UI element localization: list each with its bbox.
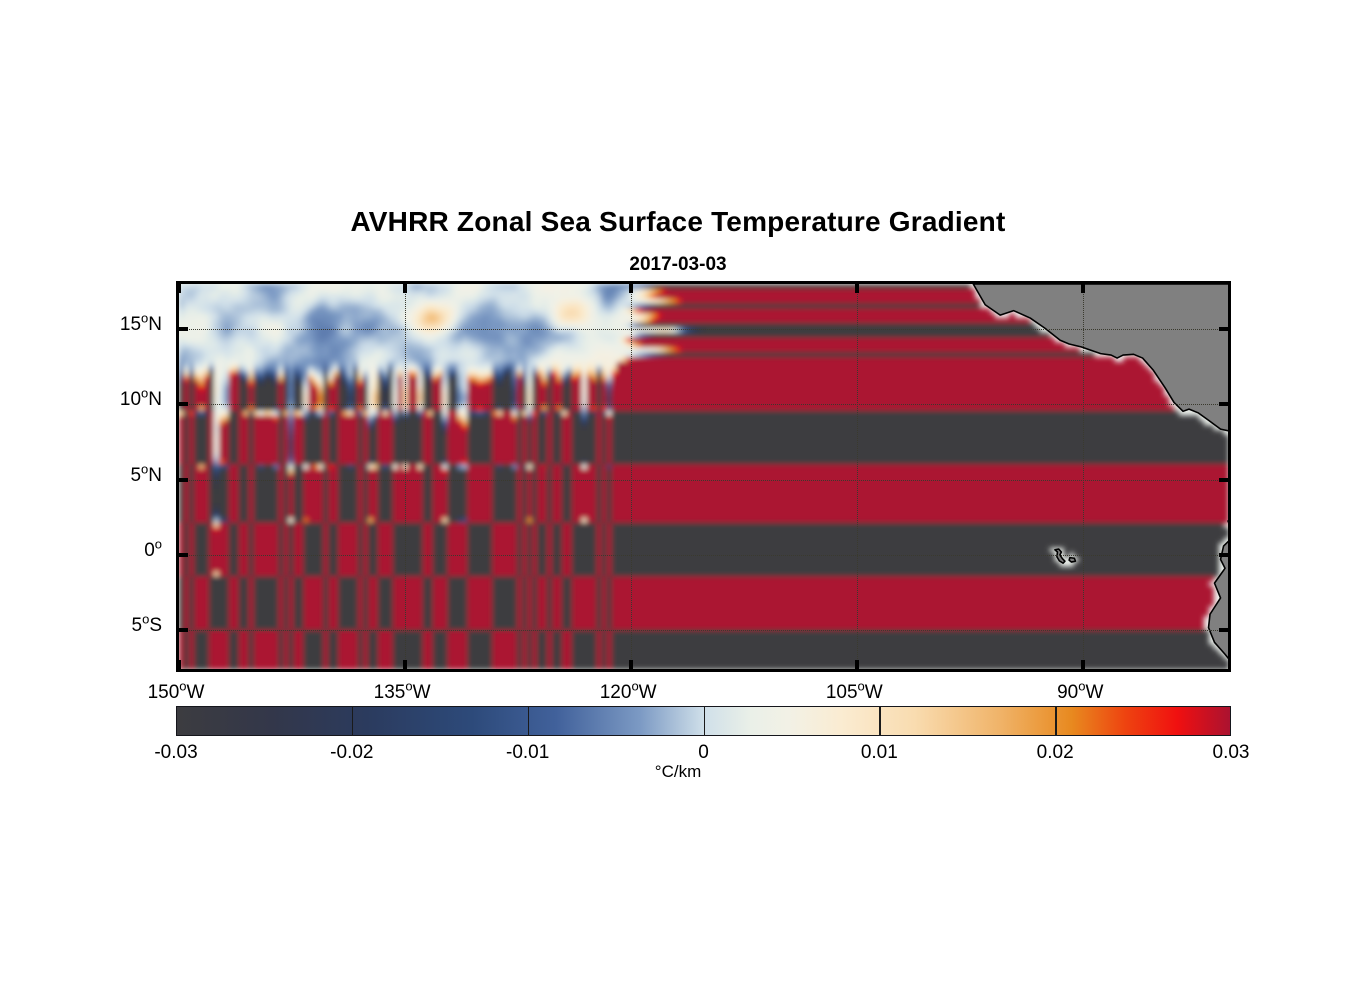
colorbar-unit-label: °C/km — [0, 762, 1356, 782]
chart-title: AVHRR Zonal Sea Surface Temperature Grad… — [0, 206, 1356, 238]
y-tick-label-5S: 5oS — [132, 615, 163, 637]
y-tick-label-5N: 5oN — [130, 465, 162, 487]
tick-lat-0 — [179, 553, 188, 557]
x-tick-label-120W: 120oW — [568, 682, 688, 704]
tick-lat-15 — [1219, 327, 1228, 331]
tick-lat-5 — [179, 628, 188, 632]
x-tick-label-90W: 90oW — [1020, 682, 1140, 704]
map-plot-area — [179, 284, 1228, 669]
tick-lon-105 — [855, 284, 859, 293]
gridline-lat-0eq — [179, 555, 1228, 556]
colorbar-tick — [879, 706, 881, 736]
gridline-lat-5S — [179, 630, 1228, 631]
x-tick-label-135W: 135oW — [342, 682, 462, 704]
tick-lon-90 — [1081, 284, 1085, 293]
tick-lon-135 — [403, 660, 407, 669]
tick-lon-120 — [629, 660, 633, 669]
chart-subtitle: 2017-03-03 — [0, 254, 1356, 276]
tick-lat-5 — [1219, 478, 1228, 482]
gridline-lat-15N — [179, 329, 1228, 330]
tick-lon-135 — [403, 284, 407, 293]
y-tick-label-15N: 15oN — [120, 314, 162, 336]
tick-lat-15 — [179, 327, 188, 331]
colorbar-label--0.02: -0.02 — [282, 742, 422, 764]
map-axes — [176, 281, 1231, 672]
y-tick-label-0eq: 0o — [144, 540, 162, 562]
x-tick-label-105W: 105oW — [794, 682, 914, 704]
gridline-lon-135W — [405, 284, 406, 669]
gridline-lat-5N — [179, 480, 1228, 481]
tick-lat-10 — [179, 402, 188, 406]
tick-lon-90 — [1081, 660, 1085, 669]
tick-lat-5 — [1219, 628, 1228, 632]
figure-canvas: AVHRR Zonal Sea Surface Temperature Grad… — [0, 0, 1356, 1000]
colorbar-label-0.02: 0.02 — [985, 742, 1125, 764]
tick-lat-5 — [179, 478, 188, 482]
sst-gradient-heatmap — [179, 284, 1228, 669]
colorbar-tick — [704, 706, 706, 736]
colorbar-tick — [528, 706, 530, 736]
tick-lon-150 — [177, 284, 181, 293]
tick-lon-105 — [855, 660, 859, 669]
tick-lat-10 — [1219, 402, 1228, 406]
colorbar-label-0.01: 0.01 — [809, 742, 949, 764]
gridline-lon-105W — [857, 284, 858, 669]
tick-lat-0 — [1219, 553, 1228, 557]
x-tick-label-150W: 150oW — [116, 682, 236, 704]
colorbar-label--0.03: -0.03 — [106, 742, 246, 764]
colorbar-label-0: 0 — [634, 742, 774, 764]
colorbar-tick — [1055, 706, 1057, 736]
gridline-lon-120W — [631, 284, 632, 669]
gridline-lon-90W — [1083, 284, 1084, 669]
tick-lon-120 — [629, 284, 633, 293]
y-tick-label-10N: 10oN — [120, 389, 162, 411]
colorbar-label--0.01: -0.01 — [458, 742, 598, 764]
tick-lon-150 — [177, 660, 181, 669]
colorbar-label-0.03: 0.03 — [1161, 742, 1301, 764]
colorbar-tick — [352, 706, 354, 736]
gridline-lat-10N — [179, 404, 1228, 405]
